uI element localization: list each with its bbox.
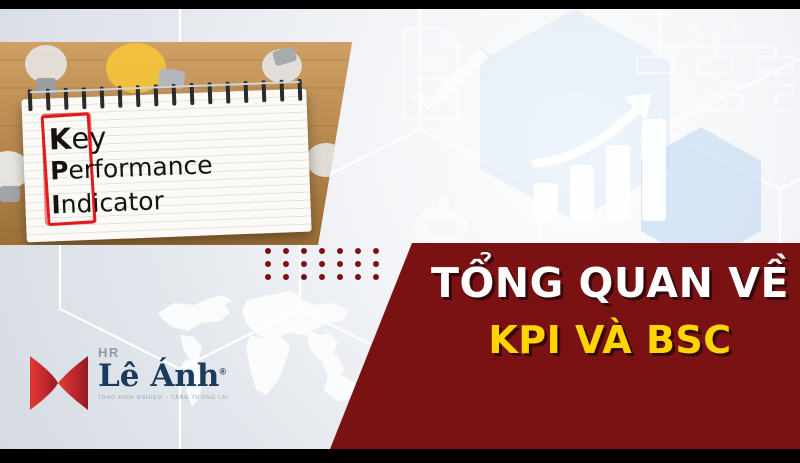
top-letterbox-bar	[0, 0, 800, 9]
note-rest: erformance	[68, 150, 213, 185]
note-line-3: Indicator	[51, 186, 164, 219]
registered-mark-icon: ®	[219, 367, 226, 377]
bottom-letterbox-bar	[0, 449, 800, 463]
note-line-2: Performance	[50, 150, 214, 185]
notepad-text: Key Performance Indicator	[21, 89, 311, 243]
dot-grid-icon	[262, 246, 394, 280]
note-rest: ey	[71, 120, 107, 155]
logo-brand: Lê Ánh®	[98, 361, 226, 392]
kpi-notepad-photo: Key Performance Indicator	[0, 42, 352, 245]
note-initial: K	[48, 122, 72, 157]
title-panel	[330, 243, 800, 449]
banner-root: Key Performance Indicator TỔNG QUAN VỀ	[0, 0, 800, 463]
logo-text-block: HR Lê Ánh® TRAO KINH NGHIỆM – TĂNG TƯƠNG…	[98, 346, 229, 401]
note-rest: ndicator	[60, 186, 164, 219]
logo-brand-name: Lê Ánh	[98, 358, 219, 394]
brand-logo: HR Lê Ánh® TRAO KINH NGHIỆM – TĂNG TƯƠNG…	[28, 346, 238, 422]
document-signature-icon	[390, 23, 505, 138]
note-line-1: Key	[48, 120, 107, 156]
note-initial: P	[50, 156, 69, 186]
growth-bar-chart-icon	[528, 87, 688, 227]
logo-tagline: TRAO KINH NGHIỆM – TĂNG TƯƠNG LAI	[98, 395, 229, 401]
le-anh-logo-mark-icon	[28, 354, 90, 412]
